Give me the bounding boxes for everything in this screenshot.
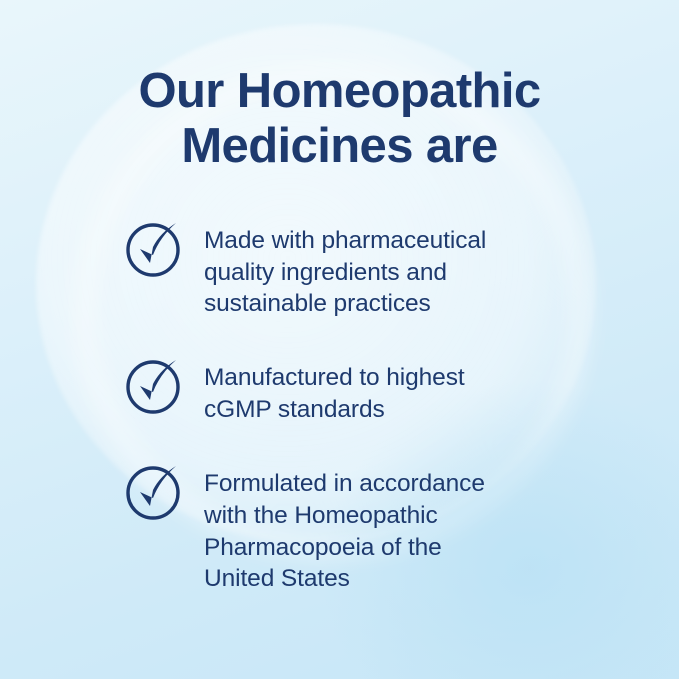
page-title: Our Homeopathic Medicines are [0, 0, 679, 175]
list-item-text: Made with pharmaceutical quality ingredi… [204, 221, 486, 321]
page-title-line-1: Our Homeopathic [44, 64, 635, 119]
list-item-text-line: sustainable practices [204, 288, 486, 320]
list-item-text-line: Formulated in accordance [204, 468, 485, 500]
list-item-text-line: United States [204, 563, 485, 595]
benefits-list: Made with pharmaceutical quality ingredi… [0, 221, 679, 596]
list-item: Manufactured to highest cGMP standards [120, 358, 623, 426]
list-item-text: Manufactured to highest cGMP standards [204, 358, 465, 426]
list-item: Made with pharmaceutical quality ingredi… [120, 221, 623, 321]
list-item-text-line: with the Homeopathic [204, 500, 485, 532]
list-item: Formulated in accordance with the Homeop… [120, 464, 623, 595]
list-item-text-line: Made with pharmaceutical [204, 225, 486, 257]
list-item-text-line: Manufactured to highest [204, 362, 465, 394]
check-circle-icon [120, 352, 186, 418]
list-item-text: Formulated in accordance with the Homeop… [204, 464, 485, 595]
list-item-text-line: Pharmacopoeia of the [204, 532, 485, 564]
check-circle-icon [120, 215, 186, 281]
page-title-line-2: Medicines are [44, 119, 635, 174]
list-item-text-line: cGMP standards [204, 394, 465, 426]
poster-canvas: Our Homeopathic Medicines are Made with … [0, 0, 679, 679]
poster-content: Our Homeopathic Medicines are Made with … [0, 0, 679, 595]
check-circle-icon [120, 458, 186, 524]
list-item-text-line: quality ingredients and [204, 257, 486, 289]
